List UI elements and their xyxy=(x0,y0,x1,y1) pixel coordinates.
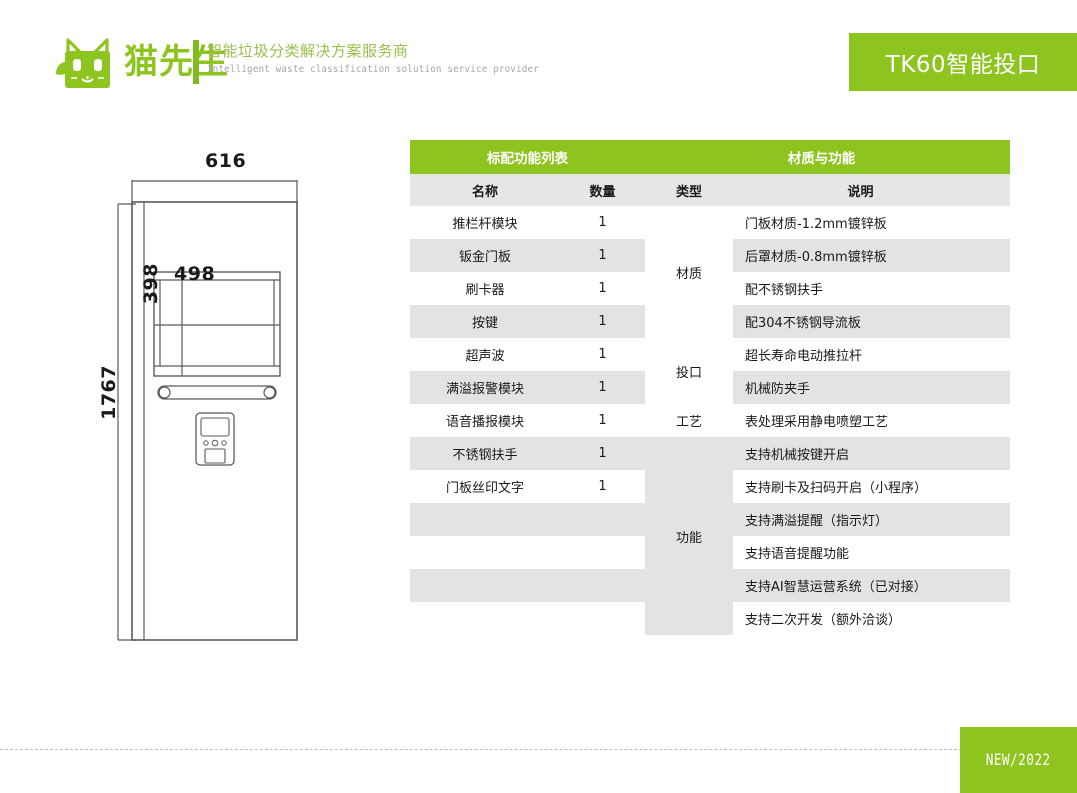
dimension-width-label: 616 xyxy=(205,150,246,172)
cell-desc: 支持机械按键开启 xyxy=(733,437,1010,470)
table-desc-column: 门板材质-1.2mm镀锌板后罩材质-0.8mm镀锌板配不锈钢扶手配304不锈钢导… xyxy=(733,206,1010,635)
cell-desc: 表处理采用静电喷塑工艺 xyxy=(733,404,1010,437)
cell-name: 刷卡器 xyxy=(410,279,560,298)
table-group-header-row: 标配功能列表 材质与功能 xyxy=(410,140,1010,174)
product-title-badge: TK60智能投口 xyxy=(849,33,1077,91)
dimension-height-label: 1767 xyxy=(98,365,120,420)
cell-name: 超声波 xyxy=(410,345,560,364)
table-row xyxy=(410,536,645,569)
group-header-material-function: 材质与功能 xyxy=(645,147,1010,167)
cell-qty: 1 xyxy=(560,413,645,428)
cat-logo-icon xyxy=(52,34,118,90)
cell-type: 工艺 xyxy=(645,404,733,437)
footer-dashed-rule xyxy=(0,749,1077,750)
brand-logo: 猫先生 xyxy=(52,34,229,90)
table-row: 刷卡器1 xyxy=(410,272,645,305)
column-header-desc: 说明 xyxy=(733,181,1010,200)
cell-qty: 1 xyxy=(560,446,645,461)
table-row: 门板丝印文字1 xyxy=(410,470,645,503)
cell-type: 投口 xyxy=(645,338,733,404)
table-row: 按键1 xyxy=(410,305,645,338)
dimension-opening-width-label: 498 xyxy=(174,263,215,285)
page-root: 猫先生 智能垃圾分类解决方案服务商 Intelligent waste clas… xyxy=(0,0,1077,793)
cell-qty: 1 xyxy=(560,215,645,230)
table-row: 超声波1 xyxy=(410,338,645,371)
cell-name: 满溢报警模块 xyxy=(410,378,560,397)
cell-type: 材质 xyxy=(645,206,733,338)
cell-desc: 配不锈钢扶手 xyxy=(733,272,1010,305)
table-body: 推栏杆模块1钣金门板1刷卡器1按键1超声波1满溢报警模块1语音播报模块1不锈钢扶… xyxy=(410,206,1010,620)
column-header-name: 名称 xyxy=(410,181,560,200)
column-header-type: 类型 xyxy=(645,181,733,200)
table-left-column: 推栏杆模块1钣金门板1刷卡器1按键1超声波1满溢报警模块1语音播报模块1不锈钢扶… xyxy=(410,206,645,602)
table-row: 推栏杆模块1 xyxy=(410,206,645,239)
table-row xyxy=(410,503,645,536)
cell-qty: 1 xyxy=(560,479,645,494)
cell-name: 推栏杆模块 xyxy=(410,213,560,232)
cell-desc: 支持语音提醒功能 xyxy=(733,536,1010,569)
header-divider xyxy=(193,40,199,84)
cell-name: 钣金门板 xyxy=(410,246,560,265)
table-row xyxy=(410,569,645,602)
table-row: 满溢报警模块1 xyxy=(410,371,645,404)
spec-table: 标配功能列表 材质与功能 名称 数量 类型 说明 推栏杆模块1钣金门板1刷卡器1… xyxy=(410,140,1010,620)
cell-desc: 门板材质-1.2mm镀锌板 xyxy=(733,206,1010,239)
cell-type: 功能 xyxy=(645,437,733,635)
cell-desc: 机械防夹手 xyxy=(733,371,1010,404)
footer-new-badge: NEW/2022 xyxy=(960,727,1077,793)
tagline-chinese: 智能垃圾分类解决方案服务商 xyxy=(207,42,568,61)
cell-name: 门板丝印文字 xyxy=(410,477,560,496)
tagline-english: Intelligent waste classification solutio… xyxy=(207,64,539,75)
table-row: 钣金门板1 xyxy=(410,239,645,272)
group-header-standard-features: 标配功能列表 xyxy=(410,147,645,167)
column-header-qty: 数量 xyxy=(560,181,645,200)
table-row: 不锈钢扶手1 xyxy=(410,437,645,470)
cell-name: 不锈钢扶手 xyxy=(410,444,560,463)
cell-desc: 后罩材质-0.8mm镀锌板 xyxy=(733,239,1010,272)
page-header: 猫先生 智能垃圾分类解决方案服务商 Intelligent waste clas… xyxy=(0,0,1077,122)
cell-qty: 1 xyxy=(560,347,645,362)
cell-desc: 支持刷卡及扫码开启（小程序） xyxy=(733,470,1010,503)
table-type-column: 材质投口工艺功能 xyxy=(645,206,733,635)
cell-desc: 配304不锈钢导流板 xyxy=(733,305,1010,338)
cell-desc: 支持满溢提醒（指示灯） xyxy=(733,503,1010,536)
cell-desc: 支持AI智慧运营系统（已对接） xyxy=(733,569,1010,602)
dimension-opening-height-label: 398 xyxy=(140,263,162,304)
table-column-header-row: 名称 数量 类型 说明 xyxy=(410,174,1010,206)
cell-qty: 1 xyxy=(560,380,645,395)
table-row: 语音播报模块1 xyxy=(410,404,645,437)
cell-qty: 1 xyxy=(560,314,645,329)
cell-qty: 1 xyxy=(560,281,645,296)
cell-name: 按键 xyxy=(410,312,560,331)
cell-name: 语音播报模块 xyxy=(410,411,560,430)
tk60-technical-drawing: 616 1767 498 398 xyxy=(60,150,380,670)
cell-qty: 1 xyxy=(560,248,645,263)
cell-desc: 支持二次开发（额外洽谈） xyxy=(733,602,1010,635)
footer-badge-label: NEW/2022 xyxy=(986,751,1051,770)
cell-desc: 超长寿命电动推拉杆 xyxy=(733,338,1010,371)
brand-tagline: 智能垃圾分类解决方案服务商 Intelligent waste classifi… xyxy=(207,42,568,75)
